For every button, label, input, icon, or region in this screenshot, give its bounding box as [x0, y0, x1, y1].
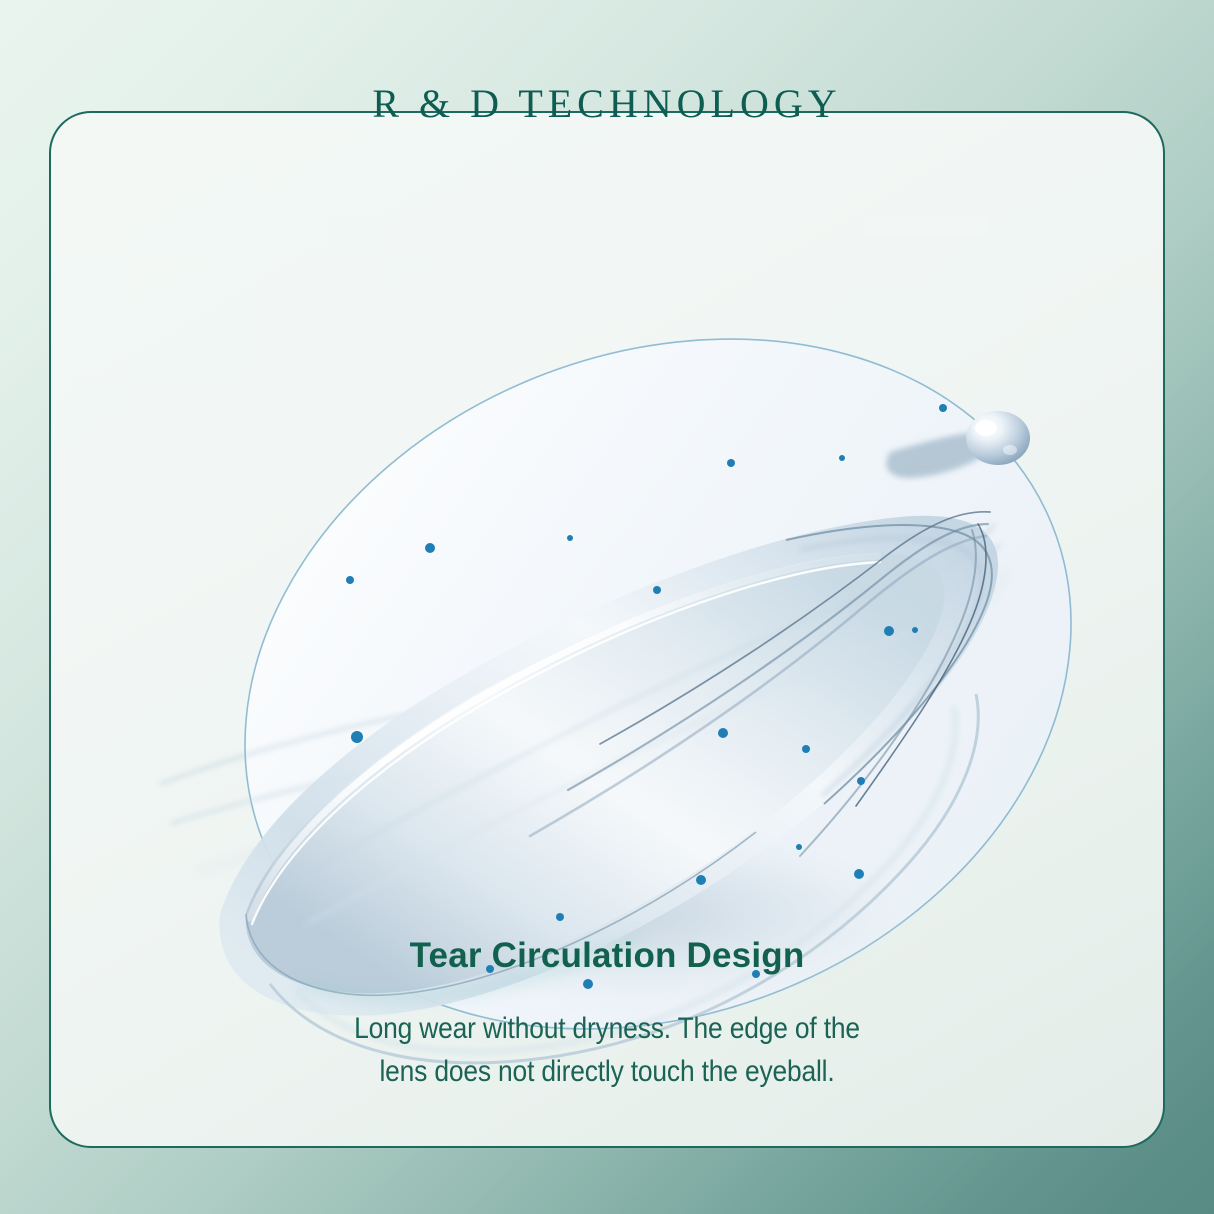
border-gap-right [863, 216, 987, 234]
particle-dot-14 [796, 844, 802, 850]
lens-crease-2 [306, 628, 922, 924]
particle-dot-0 [939, 404, 947, 412]
particle-dot-9 [351, 731, 363, 743]
droplet-tail [886, 432, 998, 478]
lens-contour-strands [530, 512, 990, 856]
feature-headline: Tear Circulation Design [0, 936, 1214, 976]
droplet-highlight [975, 420, 997, 436]
particle-dot-1 [839, 455, 845, 461]
lens-crease [276, 582, 906, 892]
particle-dot-11 [802, 745, 810, 753]
poster-root: R & D TECHNOLOGY Tear Circulation Design… [0, 0, 1214, 1214]
particle-dot-13 [854, 869, 864, 879]
particle-dot-4 [425, 543, 435, 553]
caption-block: Tear Circulation Design Long wear withou… [0, 936, 1214, 1093]
droplet-bead [966, 411, 1030, 465]
description-line-2: lens does not directly touch the eyeball… [73, 1051, 1141, 1094]
page-title: R & D TECHNOLOGY [0, 84, 1214, 124]
lens-bowl [246, 554, 945, 994]
lens-rim-highlight [250, 556, 878, 918]
particle-dot-2 [727, 459, 735, 467]
particle-dot-15 [696, 875, 706, 885]
lens-right-ridge [786, 525, 992, 804]
lens-right-ridge-soft [800, 538, 982, 796]
particle-dot-3 [567, 535, 573, 541]
water-ribbons [160, 524, 1008, 872]
water-droplet [886, 411, 1030, 478]
particle-dot-7 [884, 626, 894, 636]
particle-dot-5 [653, 586, 661, 594]
droplet-highlight-2 [1003, 445, 1017, 455]
border-gap-left [327, 216, 459, 234]
particle-dots [346, 404, 947, 989]
particle-dot-10 [718, 728, 728, 738]
description-line-1: Long wear without dryness. The edge of t… [73, 1008, 1141, 1051]
lens-rim-specular [252, 562, 880, 924]
feature-description: Long wear without dryness. The edge of t… [73, 1008, 1141, 1093]
particle-dot-12 [857, 777, 865, 785]
particle-dot-6 [346, 576, 354, 584]
particle-dot-16 [556, 913, 564, 921]
particle-dot-8 [912, 627, 918, 633]
